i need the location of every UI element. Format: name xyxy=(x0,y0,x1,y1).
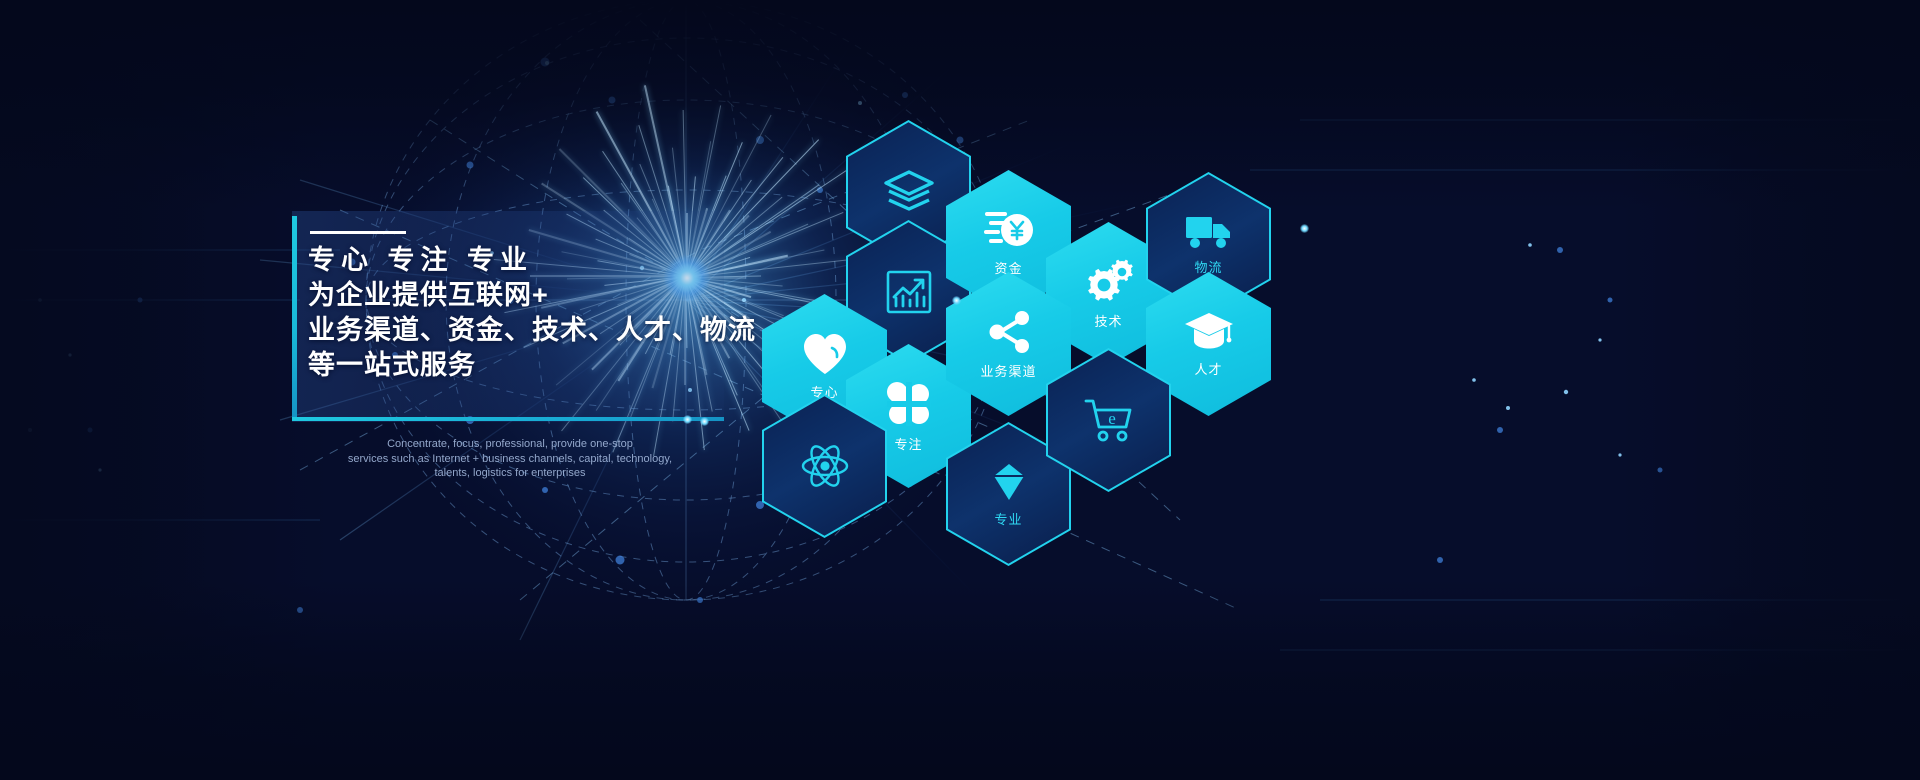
graduation-cap-icon xyxy=(1183,311,1235,353)
hexagon-label: 业务渠道 xyxy=(980,361,1036,380)
gears-icon xyxy=(1084,259,1134,305)
hexagon-label: 专注 xyxy=(894,434,922,453)
hexagon-cluster: 专心 专注 xyxy=(0,0,1920,780)
heart-icon xyxy=(801,332,849,376)
clover-icon xyxy=(885,380,933,428)
layers-icon xyxy=(882,167,936,217)
glow-dot xyxy=(700,417,709,426)
hexagon-label: 技术 xyxy=(1094,311,1122,330)
diamond-icon xyxy=(989,461,1029,503)
hexagon-atom[interactable] xyxy=(762,394,887,538)
glow-dot xyxy=(952,296,961,305)
hexagon-label: 人才 xyxy=(1194,359,1222,378)
share-node-icon xyxy=(984,309,1034,355)
banner-stage: 专心 专注 专业 为企业提供互联网+ 业务渠道、资金、技术、人才、物流 等一站式… xyxy=(0,0,1920,780)
shopping-cart-e-icon: e xyxy=(1082,396,1136,444)
hexagon-ecommerce[interactable]: e xyxy=(1046,348,1171,492)
svg-text:e: e xyxy=(1108,409,1116,428)
truck-icon xyxy=(1184,213,1234,251)
hexagon-label: 专业 xyxy=(994,509,1022,528)
glow-dot xyxy=(683,415,692,424)
atom-icon xyxy=(800,441,850,491)
glow-dot xyxy=(1300,224,1309,233)
yen-coin-icon xyxy=(983,208,1035,252)
chart-growth-icon xyxy=(884,267,934,317)
